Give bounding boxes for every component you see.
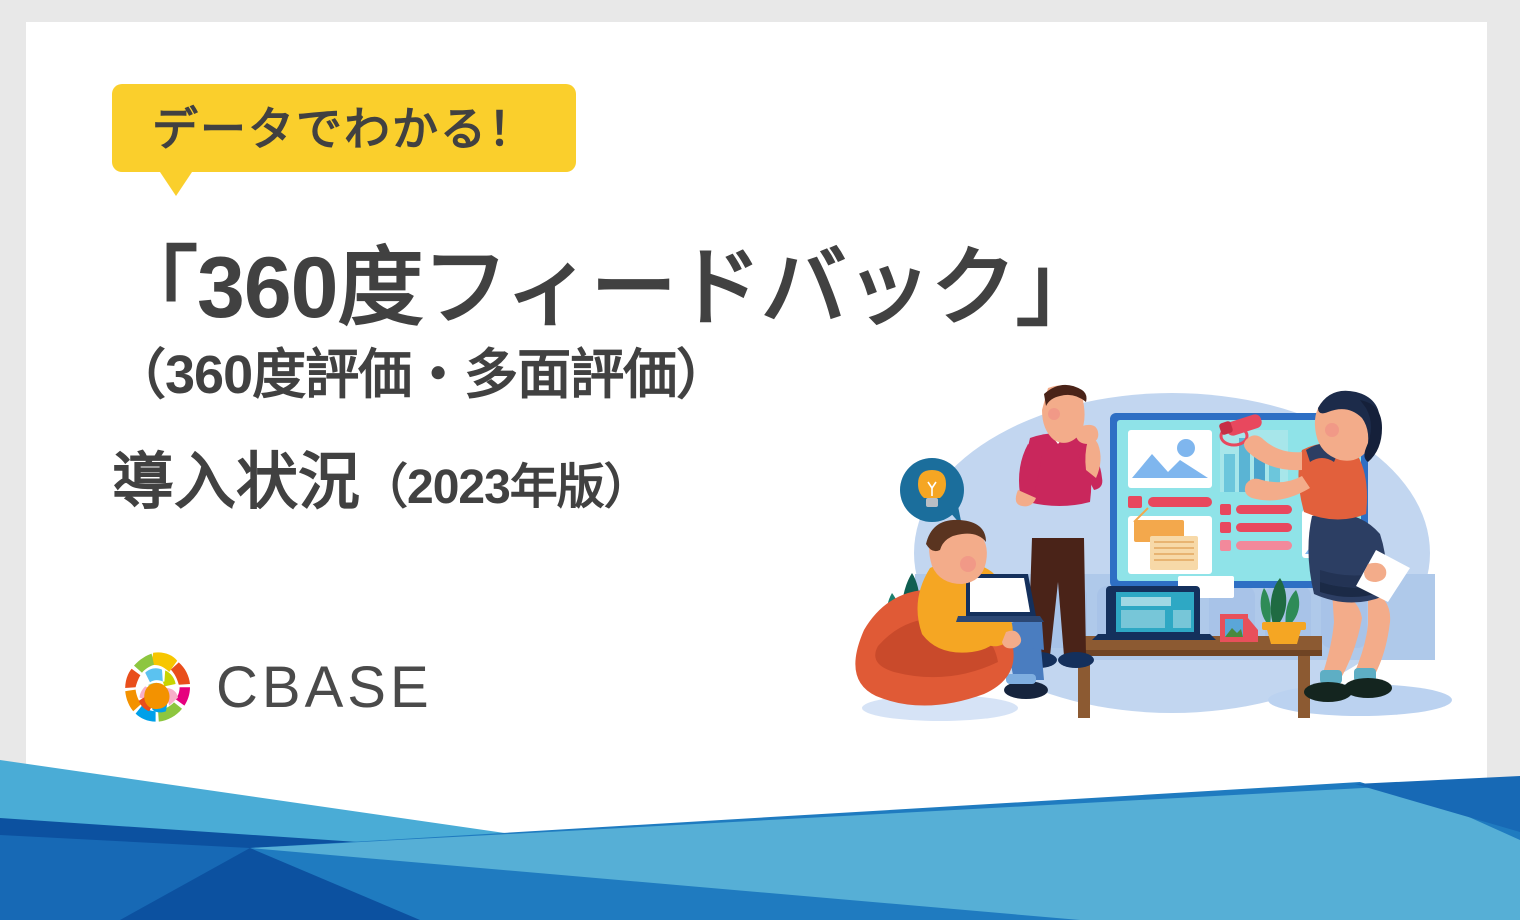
office-team-whiteboard-illustration [820,378,1480,748]
callout-badge-label: データでわかる！ [152,106,536,152]
tertiary-title-main: 導入状況 [112,448,360,517]
page-title: 「360度フィードバック」 [112,240,1101,336]
callout-badge: データでわかる！ [112,84,576,172]
idea-speech-bubble [900,458,964,526]
poster-canvas: データでわかる！ 「360度フィードバック」 （360度評価・多面評価） 導入状… [0,0,1520,920]
cbase-mosaic-sphere-icon [118,648,198,728]
callout-badge-body: データでわかる！ [112,84,576,172]
cbase-logo: CBASE [118,648,433,728]
cbase-logo-text: CBASE [216,659,433,717]
callout-badge-tail-icon [160,172,192,196]
tertiary-title-year: （2023年版） [360,461,651,514]
